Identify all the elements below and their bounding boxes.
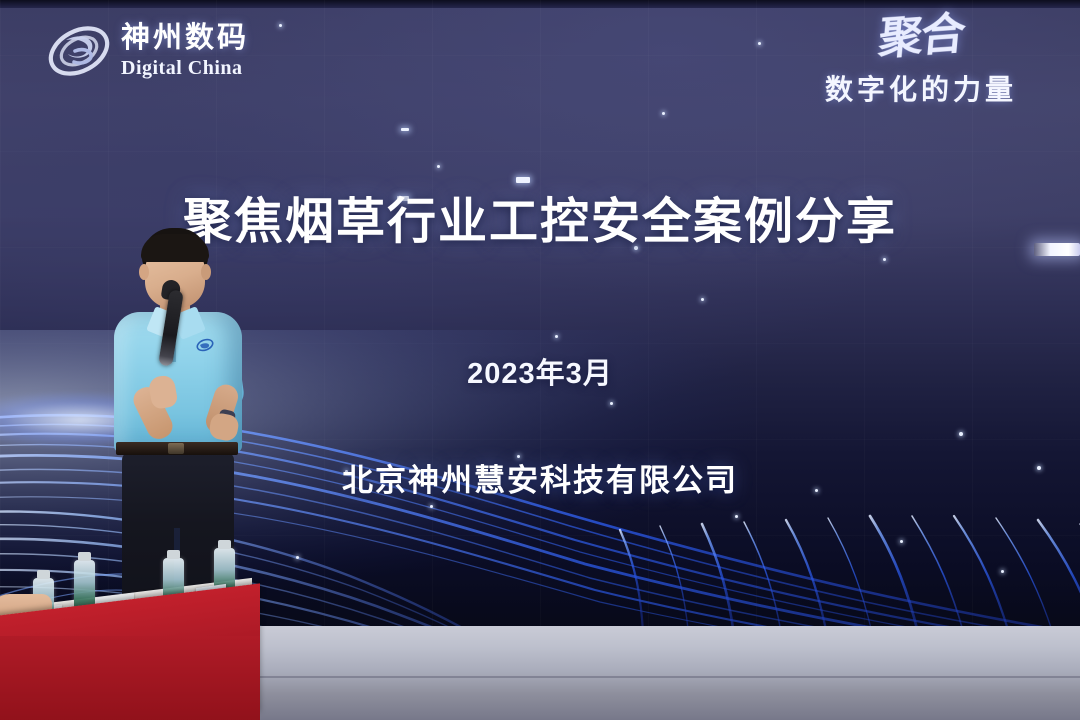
speaker-hair-front [141,234,209,262]
light-particle [959,432,963,436]
light-particle [883,258,886,261]
table-skirt-lower [0,636,260,720]
light-particle [1001,570,1004,573]
slogan-calligraphy: 聚合 [785,9,1057,65]
light-particle [758,42,761,45]
event-slogan: 聚合 数字化的力量 [788,18,1054,108]
brand-logo: 神州数码 Digital China [46,20,249,82]
speaker-ear-right [201,264,211,280]
light-particle [610,402,613,405]
light-particle [735,515,738,518]
speaker-belt-buckle [168,443,184,454]
light-particle [430,505,433,508]
light-particle [437,165,440,168]
light-particle [296,556,299,559]
light-particle [555,335,558,338]
bottle-cap [167,550,180,559]
light-particle [279,24,282,27]
bottle-cap [37,570,50,579]
brand-name-en: Digital China [121,58,249,78]
speaker-ear-left [139,264,149,280]
digital-china-swirl-icon [46,20,112,82]
bottle-cap [218,540,231,549]
bottle-cap [78,552,91,561]
light-particle [900,540,903,543]
slogan-subtitle: 数字化的力量 [788,68,1054,108]
light-particle [701,298,704,301]
speaker-chest-logo-icon [196,338,215,353]
brand-name-cn: 神州数码 [121,24,249,53]
light-particle [401,128,409,131]
light-particle [662,112,665,115]
conference-photo: 神州数码 Digital China 聚合 数字化的力量 聚焦烟草行业工控安全案… [0,0,1080,720]
